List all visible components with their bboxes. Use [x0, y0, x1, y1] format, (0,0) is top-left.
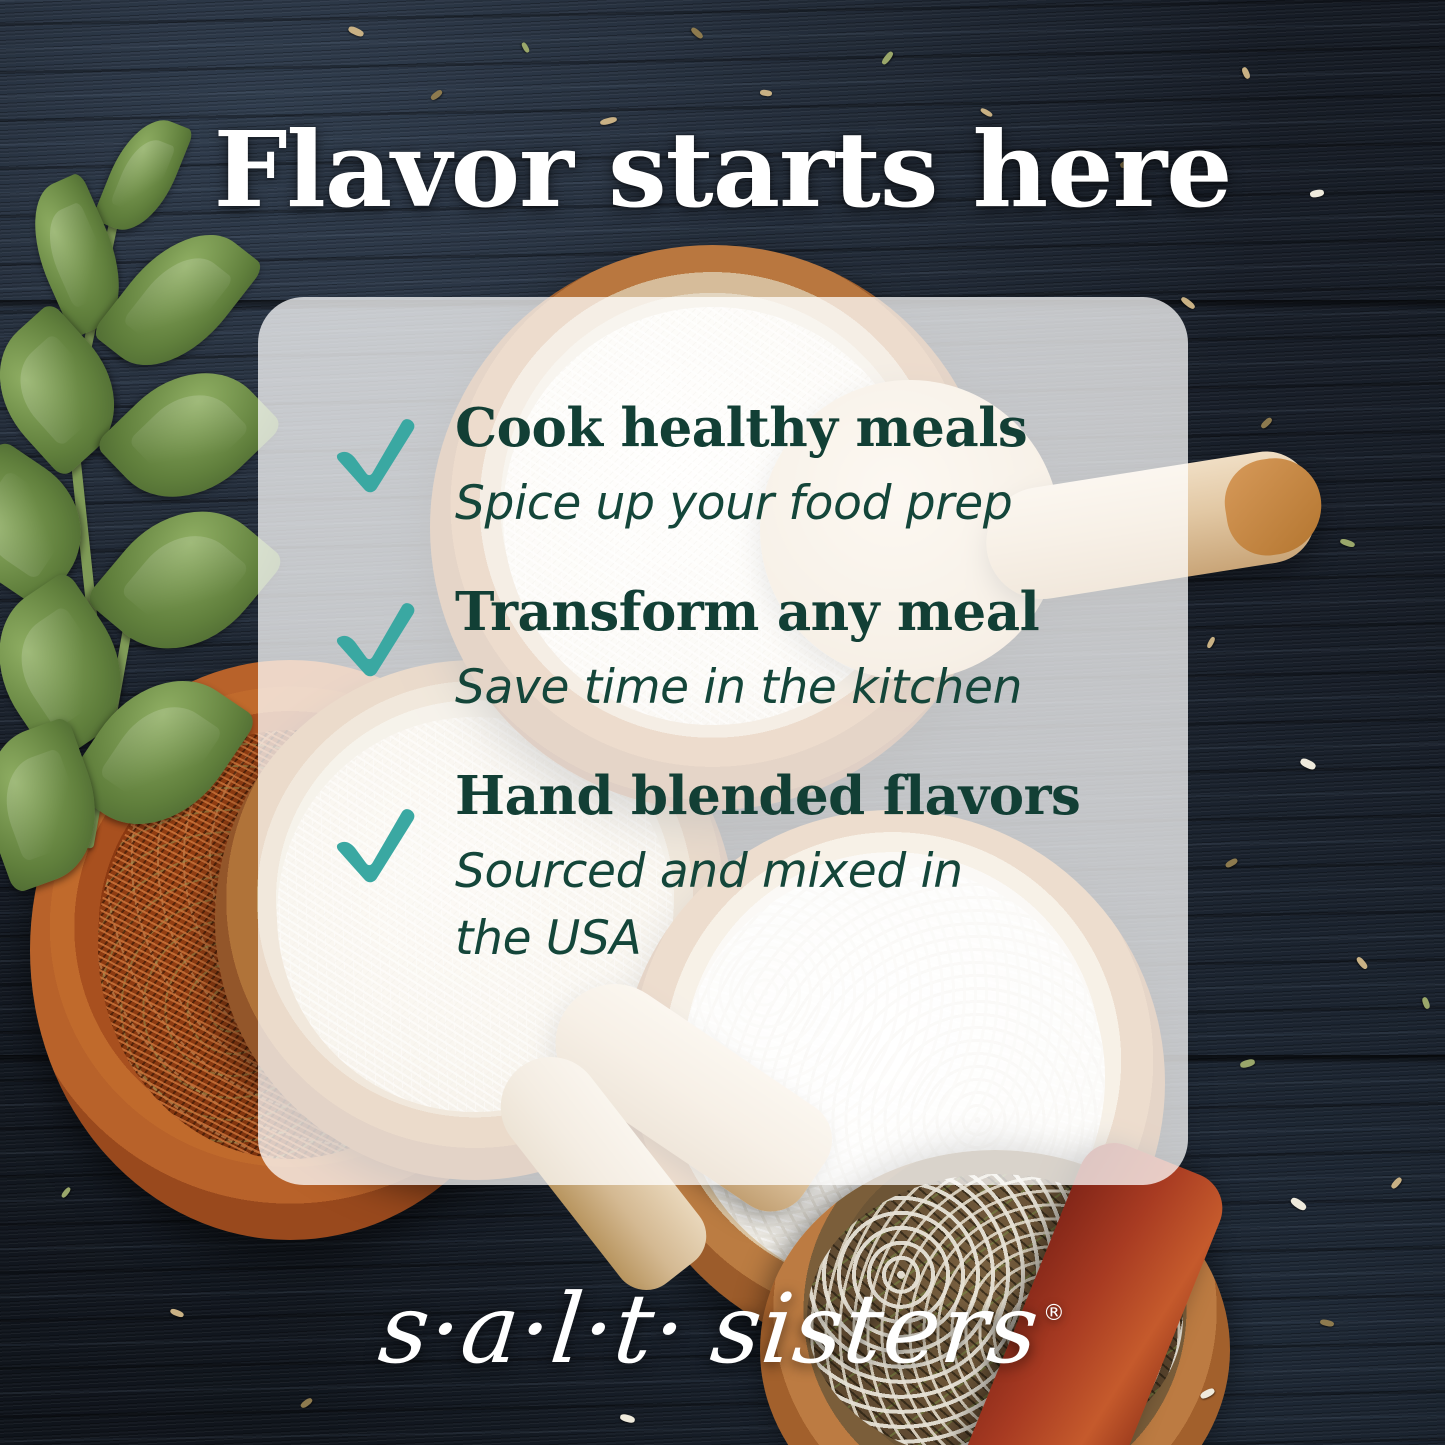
list-item-text: Transform any meal Save time in the kitc… [330, 584, 1140, 722]
benefit-subtitle: Spice up your food prep [455, 471, 1140, 538]
list-item: Cook healthy meals Spice up your food pr… [330, 400, 1140, 538]
check-icon [330, 408, 422, 500]
benefit-subtitle: Sourced and mixed in the USA [455, 839, 1015, 972]
brand-name-sisters: sisters [707, 1281, 1044, 1377]
benefit-title: Cook healthy meals [455, 400, 1140, 457]
brand-logo: s·a·l·t·sisters® [0, 1281, 1445, 1377]
list-item-text: Hand blended flavors Sourced and mixed i… [330, 768, 1140, 973]
benefit-title: Transform any meal [455, 584, 1140, 641]
benefit-title: Hand blended flavors [455, 768, 1140, 825]
promo-graphic: Flavor starts here Cook healthy meals Sp… [0, 0, 1445, 1445]
brand-name-salt: s·a·l·t· [375, 1281, 691, 1377]
benefit-subtitle: Save time in the kitchen [455, 655, 1140, 722]
check-icon [330, 798, 422, 890]
check-icon [330, 592, 422, 684]
registered-trademark-icon: ® [1043, 1303, 1065, 1325]
page-title: Flavor starts here [0, 118, 1445, 222]
benefits-list: Cook healthy meals Spice up your food pr… [330, 400, 1140, 973]
list-item-text: Cook healthy meals Spice up your food pr… [330, 400, 1140, 538]
list-item: Transform any meal Save time in the kitc… [330, 584, 1140, 722]
list-item: Hand blended flavors Sourced and mixed i… [330, 768, 1140, 973]
